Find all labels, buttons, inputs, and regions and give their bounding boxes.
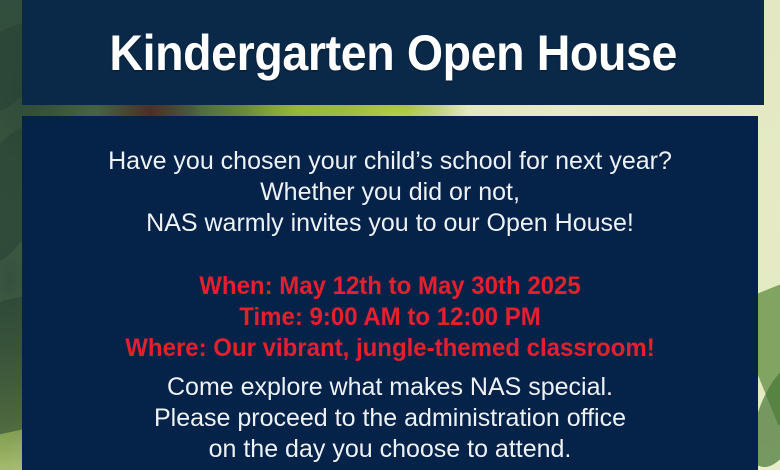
- intro-text-block: Have you chosen your child’s school for …: [40, 146, 740, 239]
- event-location-line: Where: Our vibrant, jungle-themed classr…: [54, 333, 726, 364]
- closing-line: Come explore what makes NAS special.: [40, 372, 740, 403]
- intro-line: NAS warmly invites you to our Open House…: [40, 208, 740, 239]
- intro-line: Whether you did or not,: [40, 177, 740, 208]
- event-date-line: When: May 12th to May 30th 2025: [54, 271, 726, 302]
- intro-line: Have you chosen your child’s school for …: [40, 146, 740, 177]
- title-banner: Kindergarten Open House: [22, 0, 764, 105]
- event-details-block: When: May 12th to May 30th 2025 Time: 9:…: [40, 271, 740, 364]
- closing-line: on the day you choose to attend.: [40, 434, 740, 465]
- event-time-line: Time: 9:00 AM to 12:00 PM: [54, 302, 726, 333]
- closing-line: Please proceed to the administration off…: [40, 403, 740, 434]
- closing-text-block: Come explore what makes NAS special. Ple…: [40, 372, 740, 465]
- poster-title: Kindergarten Open House: [109, 28, 677, 78]
- open-house-poster: Kindergarten Open House Have you chosen …: [0, 0, 780, 470]
- body-panel: Have you chosen your child’s school for …: [22, 116, 758, 470]
